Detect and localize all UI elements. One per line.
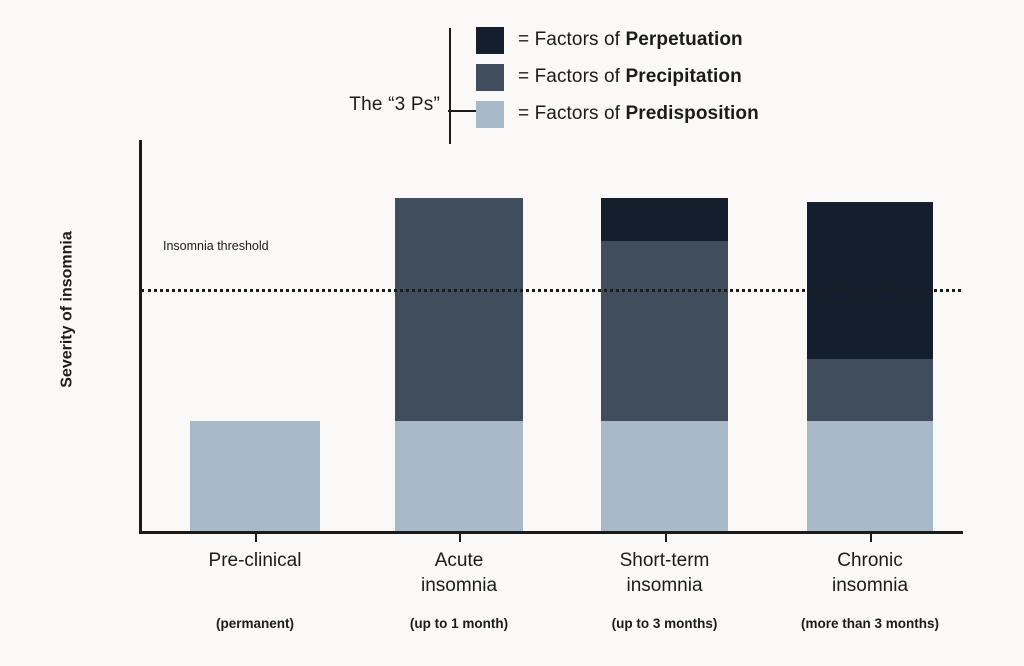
y-axis-line (139, 140, 142, 534)
x-axis-sublabel: (up to 1 month) (349, 616, 569, 631)
legend-swatch-predisposition (476, 101, 504, 128)
bar-column (395, 140, 523, 531)
insomnia-threshold-line (141, 289, 961, 292)
legend-term-predisposition: Predisposition (625, 103, 758, 124)
bar-segment (807, 359, 933, 422)
legend-term-precipitation: Precipitation (625, 66, 741, 87)
x-axis-tick (665, 533, 667, 542)
legend-item-perpetuation: = Factors of Perpetuation (476, 22, 759, 58)
chart-canvas: The “3 Ps” = Factors of Perpetuation = F… (0, 0, 1024, 666)
bar-segment (807, 202, 933, 359)
legend-term-perpetuation: Perpetuation (625, 29, 742, 50)
bar-segment (601, 421, 728, 531)
legend-label-predisposition: = Factors of Predisposition (518, 103, 759, 125)
insomnia-threshold-label: Insomnia threshold (163, 238, 269, 254)
legend-group-label: The “3 Ps” (300, 94, 440, 116)
x-axis-sublabel: (more than 3 months) (760, 616, 980, 631)
legend-bracket-line (449, 28, 451, 144)
bar-column (807, 140, 933, 531)
bar-segment (395, 421, 523, 531)
x-axis-label: Acute insomnia (349, 548, 569, 598)
legend-prefix-precipitation: = Factors of (518, 66, 625, 87)
bar-column (601, 140, 728, 531)
legend-item-predisposition: = Factors of Predisposition (476, 96, 759, 132)
legend-label-perpetuation: = Factors of Perpetuation (518, 29, 743, 51)
bar-segment (190, 421, 320, 531)
legend-prefix-perpetuation: = Factors of (518, 29, 625, 50)
x-axis-line (139, 531, 963, 534)
x-axis-tick (870, 533, 872, 542)
x-axis-tick (459, 533, 461, 542)
legend-swatch-precipitation (476, 64, 504, 91)
legend-item-precipitation: = Factors of Precipitation (476, 59, 759, 95)
legend-items: = Factors of Perpetuation = Factors of P… (476, 22, 759, 133)
bar-segment (807, 421, 933, 531)
bar-column (190, 140, 320, 531)
x-axis-label: Pre-clinical (145, 548, 365, 573)
bar-segment (601, 198, 728, 241)
x-axis-tick (255, 533, 257, 542)
legend: The “3 Ps” = Factors of Perpetuation = F… (300, 22, 820, 147)
bar-segment (395, 198, 523, 421)
x-axis-label: Chronic insomnia (760, 548, 980, 598)
legend-label-precipitation: = Factors of Precipitation (518, 66, 742, 88)
x-axis-sublabel: (up to 3 months) (555, 616, 775, 631)
y-axis-title: Severity of insomnia (58, 230, 77, 390)
bar-segment (601, 241, 728, 421)
x-axis-label: Short-term insomnia (555, 548, 775, 598)
legend-prefix-predisposition: = Factors of (518, 103, 625, 124)
legend-swatch-perpetuation (476, 27, 504, 54)
x-axis-sublabel: (permanent) (145, 616, 365, 631)
